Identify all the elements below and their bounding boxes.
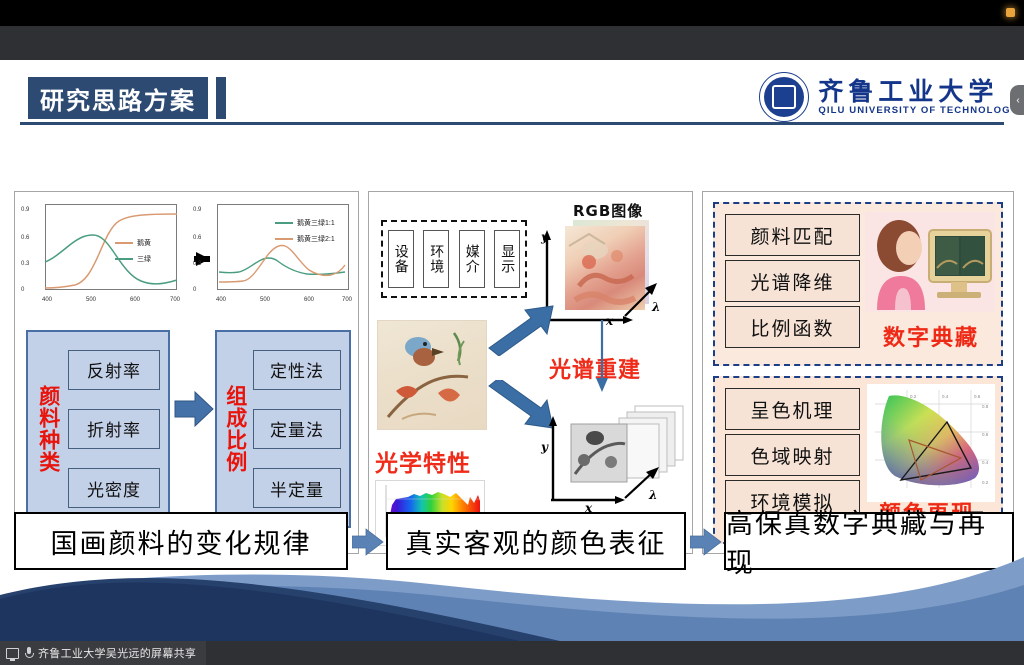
blue-arrow-icon (173, 388, 215, 430)
screen-share-label: 齐鲁工业大学吴光远的屏幕共享 (38, 645, 196, 661)
microphone-icon (24, 647, 33, 659)
svg-text:0.4: 0.4 (982, 460, 989, 465)
item-coloration-mechanism[interactable]: 呈色机理 (725, 388, 860, 430)
svg-text:0.2: 0.2 (982, 480, 989, 485)
taskbar: 齐鲁工业大学吴光远的屏幕共享 (0, 641, 1024, 665)
panel-pigment-analysis: 0.9 0.6 0.3 0 400 500 600 700 鹅黄 (14, 191, 359, 554)
chart-reflectance-mixed: 0.9 0.6 0.3 0 400 500 600 700 鹅黄三绿1:1 (191, 198, 355, 310)
logo-name-cn: 齐鲁工业大学 (818, 79, 1018, 104)
factor-medium[interactable]: 媒介 (459, 230, 485, 288)
svg-text:0.6: 0.6 (974, 394, 981, 399)
item-reflectance[interactable]: 反射率 (68, 350, 160, 390)
factor-device[interactable]: 设备 (388, 230, 414, 288)
label-optical-properties: 光学特性 (375, 444, 471, 478)
group-influence-factors: 设备 环境 媒介 显示 (381, 220, 527, 298)
legend-item-0: 鹅黄三绿1:1 (275, 218, 335, 228)
collapse-panel-button[interactable]: ‹ (1010, 85, 1024, 115)
group-composition-ratio: 组成比例 定性法 定量法 半定量 (215, 330, 351, 528)
item-refraction[interactable]: 折射率 (68, 409, 160, 449)
chart-curves (19, 198, 183, 310)
university-logo: 齐鲁工业大学 QILU UNIVERSITY OF TECHNOLOGY (759, 72, 1018, 122)
page-title: 研究思路方案 (40, 81, 196, 116)
title-accent-bar (216, 77, 226, 119)
top-black-bar (0, 0, 1024, 26)
item-semi-quantitative[interactable]: 半定量 (253, 468, 341, 508)
svg-text:0.6: 0.6 (982, 432, 989, 437)
legend-item-1: 三绿 (115, 254, 151, 264)
chart-curves (191, 198, 355, 310)
group-pigment-type-label: 颜料种类 (28, 332, 68, 526)
top-gray-bar (0, 26, 1024, 60)
svg-text:0.4: 0.4 (942, 394, 949, 399)
legend-item-1: 鹅黄三绿2:1 (275, 234, 335, 244)
axis-label-lambda: λ (652, 300, 660, 314)
axis-label-y2: y (541, 440, 548, 454)
screen-share-chip[interactable]: 齐鲁工业大学吴光远的屏幕共享 (0, 641, 206, 665)
axis-label-y: y (541, 230, 548, 244)
chinese-painting-image (377, 320, 487, 430)
chart-reflectance-pure: 0.9 0.6 0.3 0 400 500 600 700 鹅黄 (19, 198, 183, 310)
item-pigment-matching[interactable]: 颜料匹配 (725, 214, 860, 256)
svg-text:0.2: 0.2 (910, 394, 917, 399)
logo-name-en: QILU UNIVERSITY OF TECHNOLOGY (818, 105, 1018, 116)
decorative-wave (0, 551, 1024, 641)
group-composition-ratio-label: 组成比例 (217, 332, 253, 526)
downward-blue-arrow-icon (595, 320, 609, 394)
cie-chromaticity-diagram: 0.2 0.4 0.6 0.8 0.6 0.4 0.2 (867, 384, 995, 502)
arrow-up-right-icon (487, 304, 561, 356)
factor-environment[interactable]: 环境 (423, 230, 449, 288)
panel-digital-archiving: 颜料匹配 光谱降维 比例函数 数字典藏 (702, 191, 1014, 554)
panel-spectral-reconstruction: 设备 环境 媒介 显示 RGB图像 (368, 191, 693, 554)
factor-display[interactable]: 显示 (494, 230, 520, 288)
slide-canvas: 研究思路方案 齐鲁工业大学 QILU UNIVERSITY OF TECHNOL… (0, 60, 1024, 641)
label-rgb-image: RGB图像 (573, 200, 643, 221)
item-ratio-function[interactable]: 比例函数 (725, 306, 860, 348)
label-digital-archive: 数字典藏 (883, 320, 979, 352)
legend-item-0: 鹅黄 (115, 238, 151, 248)
item-gamut-mapping[interactable]: 色域映射 (725, 434, 860, 476)
item-qualitative[interactable]: 定性法 (253, 350, 341, 390)
university-seal-icon (759, 72, 809, 122)
svg-text:0.8: 0.8 (982, 404, 989, 409)
illustration-viewer-and-monitor (865, 212, 995, 312)
screen-share-view: 研究思路方案 齐鲁工业大学 QILU UNIVERSITY OF TECHNOL… (0, 0, 1024, 665)
group-pigment-type: 颜料种类 反射率 折射率 光密度 (26, 330, 170, 528)
title-underline (20, 122, 1004, 125)
item-quantitative[interactable]: 定量法 (253, 409, 341, 449)
item-optical-density[interactable]: 光密度 (68, 468, 160, 508)
item-spectral-dim-reduction[interactable]: 光谱降维 (725, 260, 860, 302)
axis-label-lambda2: λ (649, 488, 657, 502)
slide-title-tag: 研究思路方案 (28, 77, 208, 119)
recording-indicator-dot (1006, 8, 1015, 17)
monitor-icon (6, 648, 19, 659)
